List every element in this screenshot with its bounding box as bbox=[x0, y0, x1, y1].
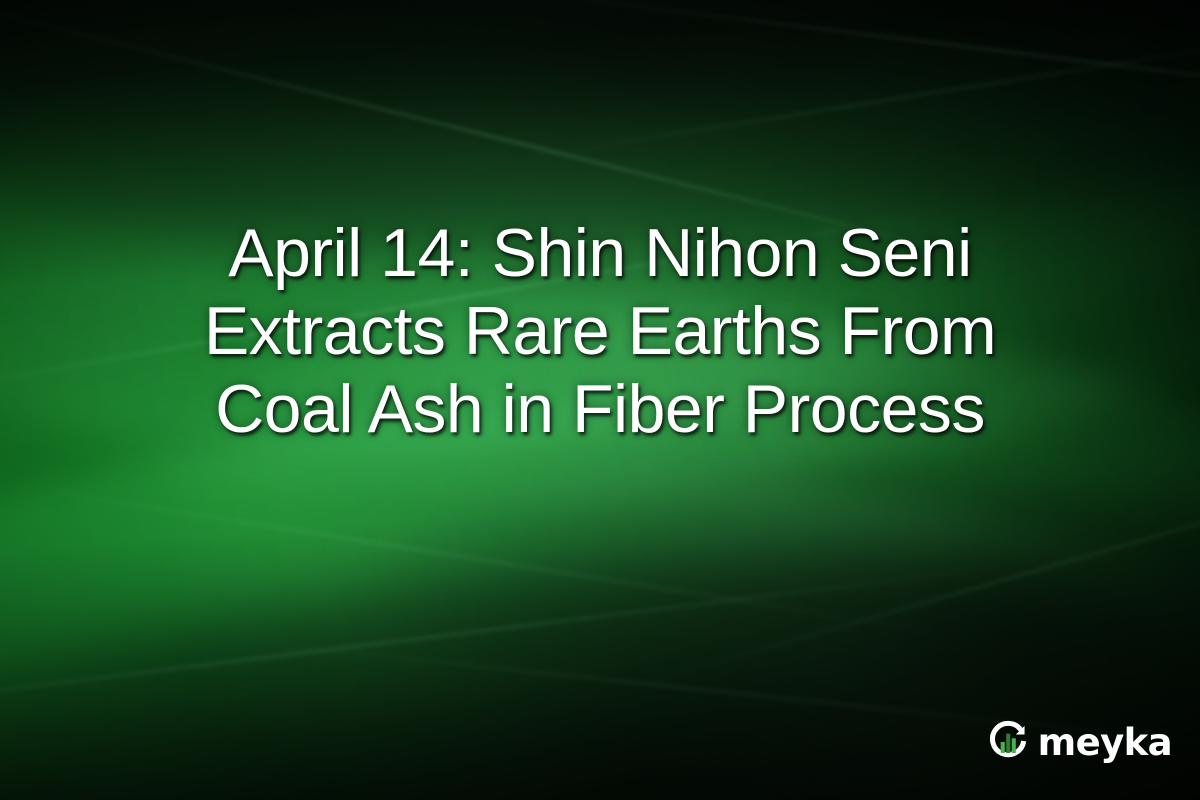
brand-wordmark: meyka bbox=[1038, 724, 1172, 761]
news-card: April 14: Shin Nihon Seni Extracts Rare … bbox=[0, 0, 1200, 800]
page-title: April 14: Shin Nihon Seni Extracts Rare … bbox=[120, 214, 1080, 449]
circular-arrow-bar-chart-icon bbox=[985, 718, 1031, 764]
brand-logo[interactable]: meyka bbox=[985, 718, 1172, 764]
headline-container: April 14: Shin Nihon Seni Extracts Rare … bbox=[0, 168, 1200, 494]
